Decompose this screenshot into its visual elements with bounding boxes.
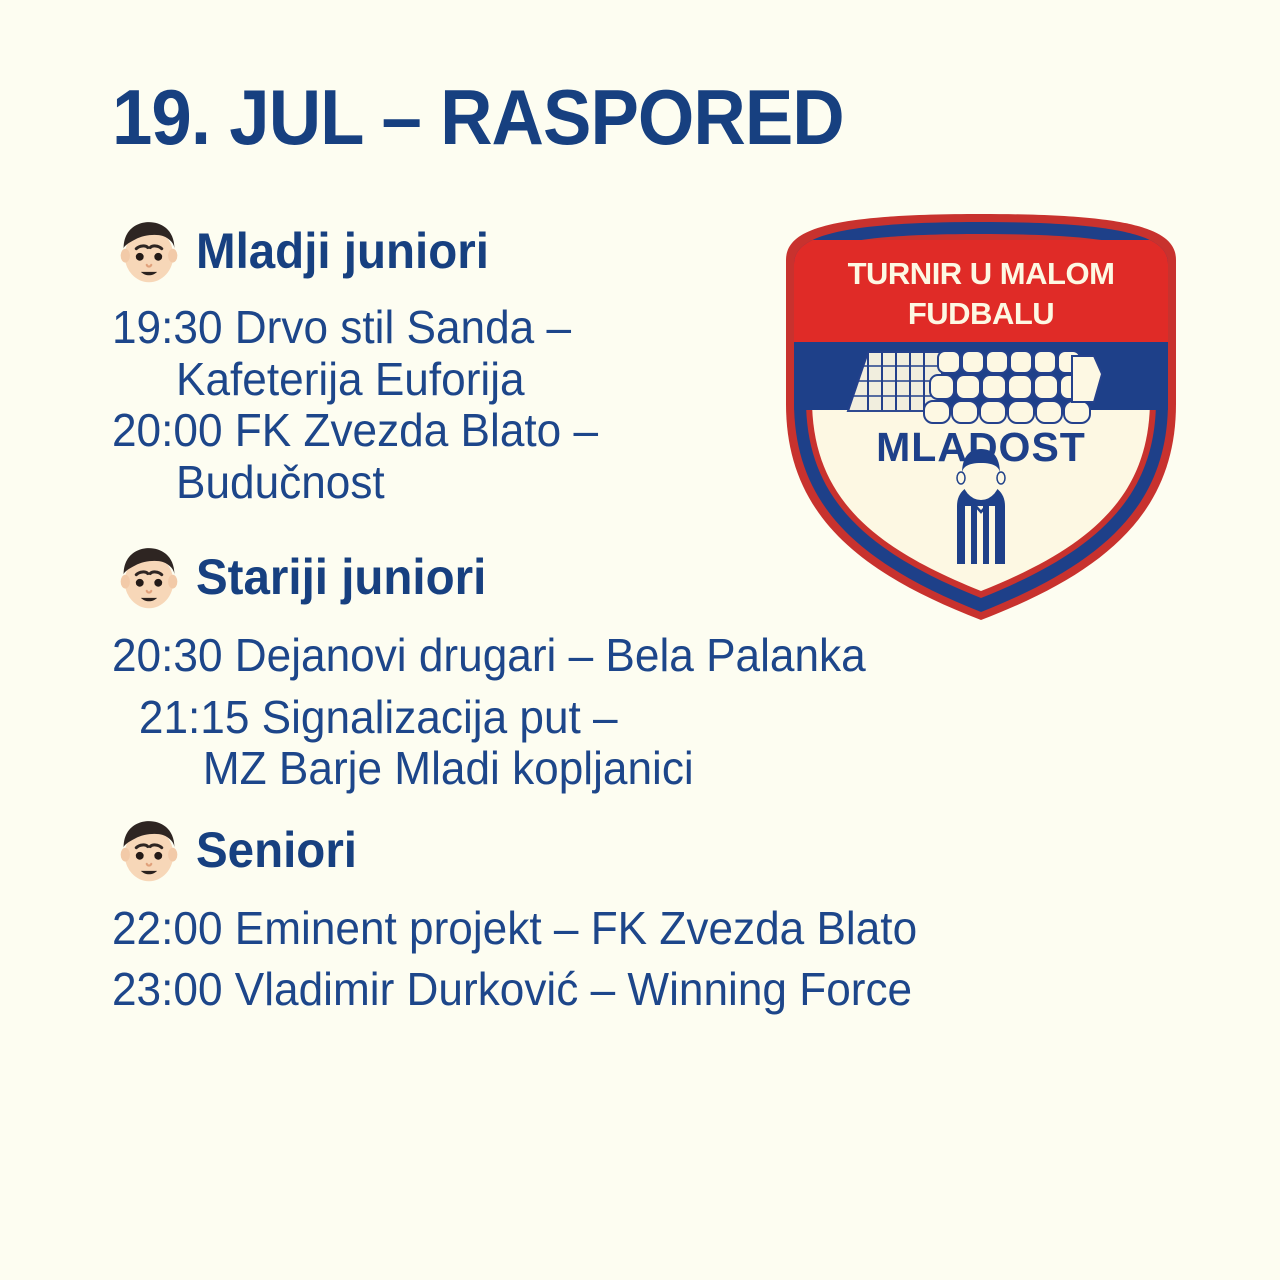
crest-top-text-line2: FUDBALU	[908, 296, 1054, 331]
match-row: 23:00 Vladimir Durković – Winning Force	[112, 964, 734, 1016]
schedule-section: Seniori 22:00 Eminent projekt – FK Zvezd…	[0, 813, 760, 1016]
match-row: 20:00 FK Zvezda Blato – Budučnost	[112, 405, 734, 508]
match-line-1: 20:00 FK Zvezda Blato –	[112, 404, 598, 456]
page-title: 19. JUL – RASPORED	[112, 78, 844, 156]
schedule-section: Stariji juniori 20:30 Dejanovi drugari –…	[0, 540, 760, 795]
section-header: Seniori	[0, 813, 760, 887]
match-line-1: 21:15 Signalizacija put –	[139, 691, 618, 743]
schedule-list: Mladji juniori 19:30 Drvo stil Sanda – K…	[0, 214, 760, 1016]
match-line-1: 22:00 Eminent projekt – FK Zvezda Blato	[112, 902, 917, 954]
mladost-club-crest: TURNIR U MALOM FUDBALU MLADOST	[772, 206, 1190, 626]
section-title: Seniori	[196, 825, 357, 875]
match-line-2: Kafeterija Euforija	[112, 354, 734, 406]
match-row: 20:30 Dejanovi drugari – Bela Palanka	[112, 630, 734, 682]
poster-canvas: 19. JUL – RASPORED	[0, 0, 1280, 1280]
match-line-2: MZ Barje Mladi kopljanici	[139, 743, 734, 795]
section-title: Stariji juniori	[196, 552, 486, 602]
match-row: 22:00 Eminent projekt – FK Zvezda Blato	[112, 903, 734, 955]
schedule-section: Mladji juniori 19:30 Drvo stil Sanda – K…	[0, 214, 760, 508]
crest-club-name: MLADOST	[876, 424, 1086, 470]
section-header: Mladji juniori	[0, 214, 760, 288]
boy-face-emoji	[112, 214, 186, 288]
match-row: 19:30 Drvo stil Sanda – Kafeterija Eufor…	[112, 302, 734, 405]
boy-face-emoji	[112, 813, 186, 887]
match-row: 21:15 Signalizacija put – MZ Barje Mladi…	[112, 692, 734, 795]
match-line-1: 20:30 Dejanovi drugari – Bela Palanka	[112, 629, 866, 681]
match-list: 22:00 Eminent projekt – FK Zvezda Blato …	[0, 903, 760, 1016]
match-line-2: Budučnost	[112, 457, 734, 509]
section-title: Mladji juniori	[196, 226, 489, 276]
boy-face-emoji	[112, 540, 186, 614]
section-header: Stariji juniori	[0, 540, 760, 614]
crest-top-text-line1: TURNIR U MALOM	[848, 256, 1115, 291]
match-line-1: 19:30 Drvo stil Sanda –	[112, 301, 571, 353]
match-list: 19:30 Drvo stil Sanda – Kafeterija Eufor…	[0, 302, 760, 508]
match-line-1: 23:00 Vladimir Durković – Winning Force	[112, 963, 912, 1015]
match-list: 20:30 Dejanovi drugari – Bela Palanka 21…	[0, 630, 760, 795]
